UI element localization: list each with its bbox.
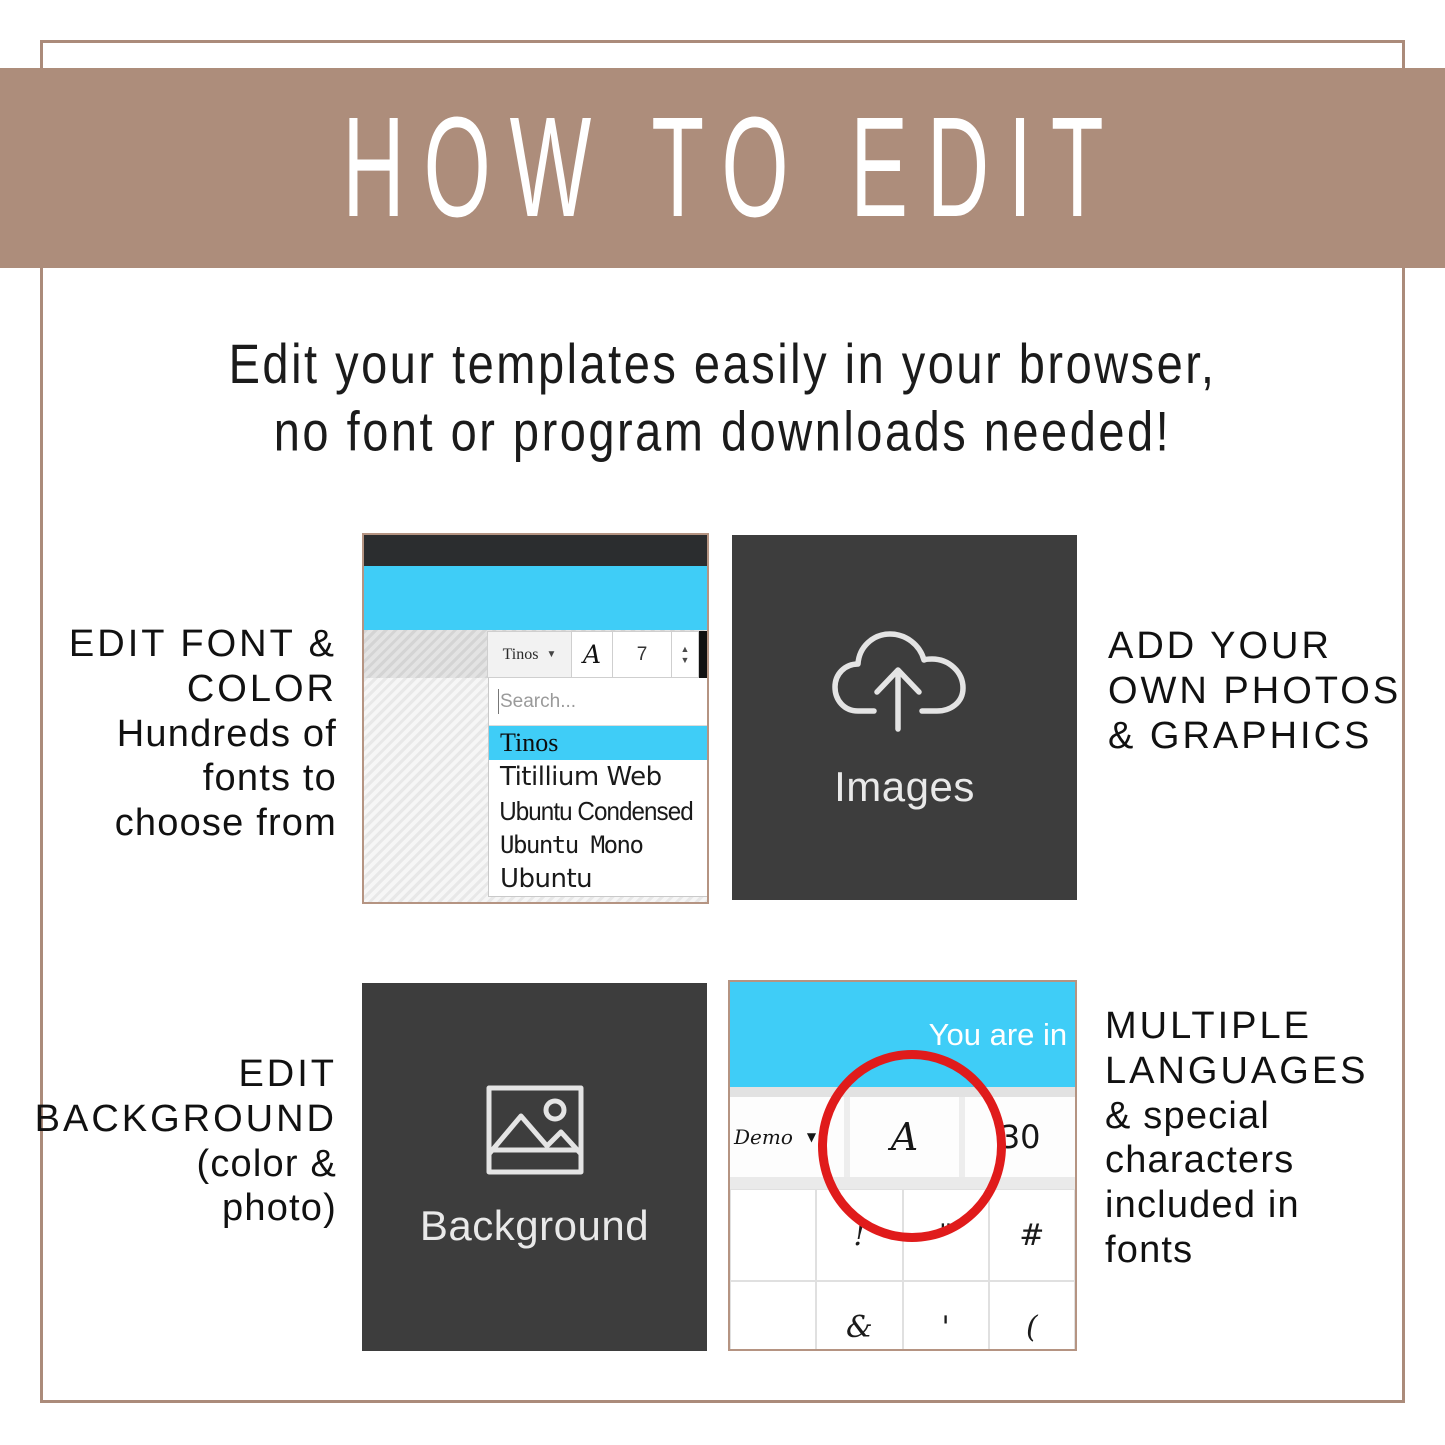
font-search-placeholder: Search... [500,691,576,713]
editor-titlebar [364,535,707,566]
font-toolbar: Tinos ▼ A 7 ▲ ▼ [488,631,699,678]
caption-line: ADD YOUR [1108,624,1428,669]
glyph-grid: ! " # & ' ( [730,1189,1075,1349]
font-picker-screenshot: Tinos ▼ A 7 ▲ ▼ Search... Tinos Titilliu… [362,533,709,904]
editor-cyan-banner [364,566,707,630]
chevron-down-icon: ▼ [546,649,556,660]
caption-line: included in [1105,1183,1435,1228]
subtitle-line-1: Edit your templates easily in your brows… [0,330,1445,398]
caption-line: fonts [1105,1228,1435,1273]
images-tile-label: Images [834,763,975,811]
glyph-grid-screenshot: You are in e Demo ▼ A 30 ! " # & ' ( [728,980,1077,1351]
caption-line: Hundreds of [37,712,337,757]
caption-line: COLOR [37,667,337,712]
caption-line: EDIT [17,1052,337,1097]
background-tile[interactable]: Background [362,983,707,1351]
font-list-item-titillium-web[interactable]: Titillium Web [489,760,707,794]
images-tile[interactable]: Images [732,535,1077,900]
subtitle: Edit your templates easily in your brows… [0,330,1445,465]
chevron-down-icon: ▼ [807,1130,816,1144]
glyph-toolbar-separator [730,1087,1075,1097]
font-list-item-ubuntu-condensed[interactable]: Ubuntu Condensed [489,794,692,828]
caption-line: (color & [17,1142,337,1187]
caption-line: & GRAPHICS [1108,714,1428,759]
glyph-grid-separator [730,1177,1075,1189]
glyph-font-value: Demo [734,1125,793,1149]
glyph-cell[interactable]: ' [903,1281,989,1351]
font-size-stepper[interactable]: ▲ ▼ [671,631,699,678]
glyph-cell[interactable] [730,1281,816,1351]
subtitle-line-2: no font or program downloads needed! [0,398,1445,466]
caption-line: fonts to [37,756,337,801]
page-title: HOW TO EDIT [323,97,1122,240]
glyph-editor-banner-text: You are in e [929,1017,1077,1053]
glyph-font-dropdown[interactable]: Demo ▼ [730,1097,850,1177]
caption-line: BACKGROUND [17,1097,337,1142]
background-tile-label: Background [420,1202,649,1250]
glyph-cell[interactable]: ( [989,1281,1075,1351]
caption-line: & special [1105,1094,1435,1139]
glyph-cell[interactable]: # [989,1189,1075,1281]
glyph-cell[interactable]: ! [816,1189,902,1281]
caption-multiple-languages: MULTIPLE LANGUAGES & special characters … [1105,1004,1435,1273]
font-family-value: Tinos [503,646,539,664]
glyph-cell[interactable] [730,1189,816,1281]
font-list-item-ubuntu-mono[interactable]: Ubuntu Mono [489,828,707,862]
glyph-cell[interactable]: " [903,1189,989,1281]
caption-line: characters [1105,1138,1435,1183]
caption-line: OWN PHOTOS [1108,669,1428,714]
font-list-dropdown[interactable]: Search... Tinos Titillium Web Ubuntu Con… [488,678,708,897]
caption-line: choose from [37,801,337,846]
caption-line: photo) [17,1186,337,1231]
glyph-cell[interactable]: & [816,1281,902,1351]
script-a-icon[interactable]: A [571,631,613,678]
caption-add-photos: ADD YOUR OWN PHOTOS & GRAPHICS [1108,624,1428,758]
stepper-up-icon[interactable]: ▲ [681,646,690,653]
caption-edit-font-color: EDIT FONT & COLOR Hundreds of fonts to c… [37,622,337,846]
image-picture-icon [485,1084,585,1176]
font-search-input[interactable]: Search... [489,678,707,726]
header-banner: HOW TO EDIT [0,68,1445,268]
font-list-item-ubuntu[interactable]: Ubuntu [489,862,707,896]
caption-line: MULTIPLE [1105,1004,1435,1049]
stepper-down-icon[interactable]: ▼ [681,657,690,664]
font-list-item-tinos[interactable]: Tinos [489,726,707,760]
caption-line: LANGUAGES [1105,1049,1435,1094]
glyph-toolbar: Demo ▼ A 30 [730,1097,1075,1177]
caption-line: EDIT FONT & [37,622,337,667]
font-family-dropdown[interactable]: Tinos ▼ [487,631,572,678]
text-cursor [498,689,499,714]
glyph-font-size[interactable]: 30 [965,1097,1075,1177]
glyph-editor-banner: You are in e [730,982,1075,1087]
cloud-upload-icon [830,625,980,737]
caption-edit-background: EDIT BACKGROUND (color & photo) [17,1052,337,1231]
font-size-input[interactable]: 7 [612,631,672,678]
script-a-icon[interactable]: A [850,1097,966,1177]
